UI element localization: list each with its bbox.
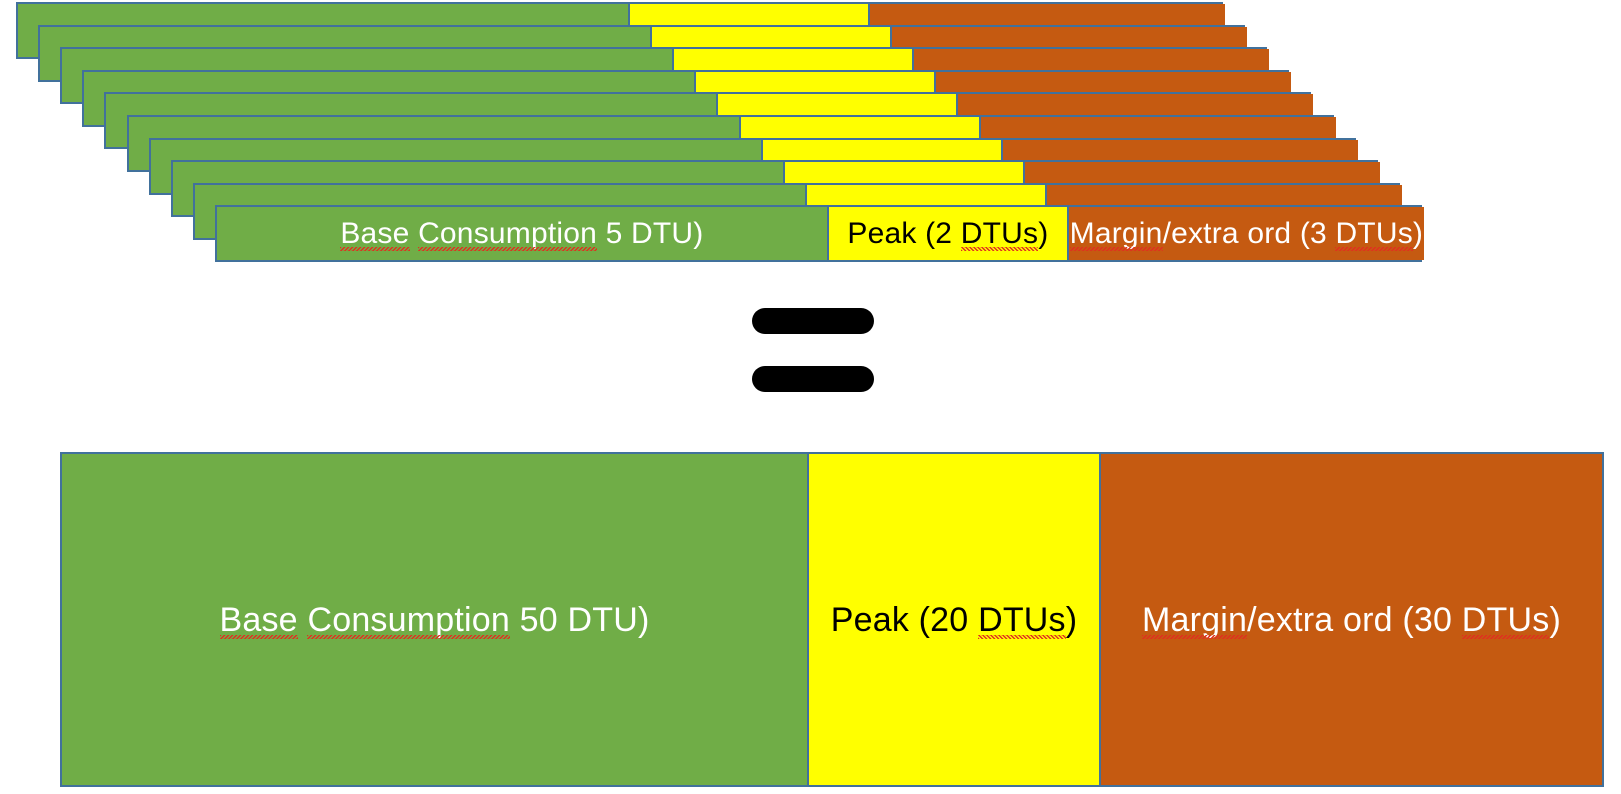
database-card: Base Consumption 5 DTU)Peak (2 DTUs)Marg… [215,205,1422,262]
equals-sign [752,308,874,392]
spellcheck-underline: Consumption [307,603,510,637]
card-segment-base: Base Consumption 5 DTU) [217,207,827,260]
summary-peak-label: Peak (20 DTUs) [831,603,1078,637]
spellcheck-underline: Margin [1142,603,1247,637]
summary-segment-base: Base Consumption 50 DTU) [62,454,807,785]
card-segment-margin: Margin/extra ord (3 DTUs) [1067,207,1424,260]
front-card-peak-label: Peak (2 DTUs) [847,219,1048,249]
equals-bar-bottom [752,366,874,392]
summary-base-label: Base Consumption 50 DTU) [220,603,650,637]
summary-margin-label: Margin/extra ord (30 DTUs) [1142,603,1561,637]
spellcheck-underline: Consumption [418,219,597,249]
summary-bar: Base Consumption 50 DTU) Peak (20 DTUs) … [60,452,1604,787]
front-card-margin-label: Margin/extra ord (3 DTUs) [1070,219,1423,249]
spellcheck-underline: DTUs [961,219,1038,249]
spellcheck-underline: Base [340,219,409,249]
spellcheck-underline: DTUs [1335,219,1412,249]
spellcheck-underline: Margin [1070,219,1163,249]
spellcheck-underline: Base [220,603,298,637]
spellcheck-underline: DTUs [978,603,1066,637]
spellcheck-underline: DTUs [1462,603,1550,637]
summary-segment-margin: Margin/extra ord (30 DTUs) [1099,454,1602,785]
summary-segment-peak: Peak (20 DTUs) [807,454,1099,785]
front-card-base-label: Base Consumption 5 DTU) [340,219,703,249]
equals-bar-top [752,308,874,334]
card-segment-peak: Peak (2 DTUs) [827,207,1067,260]
